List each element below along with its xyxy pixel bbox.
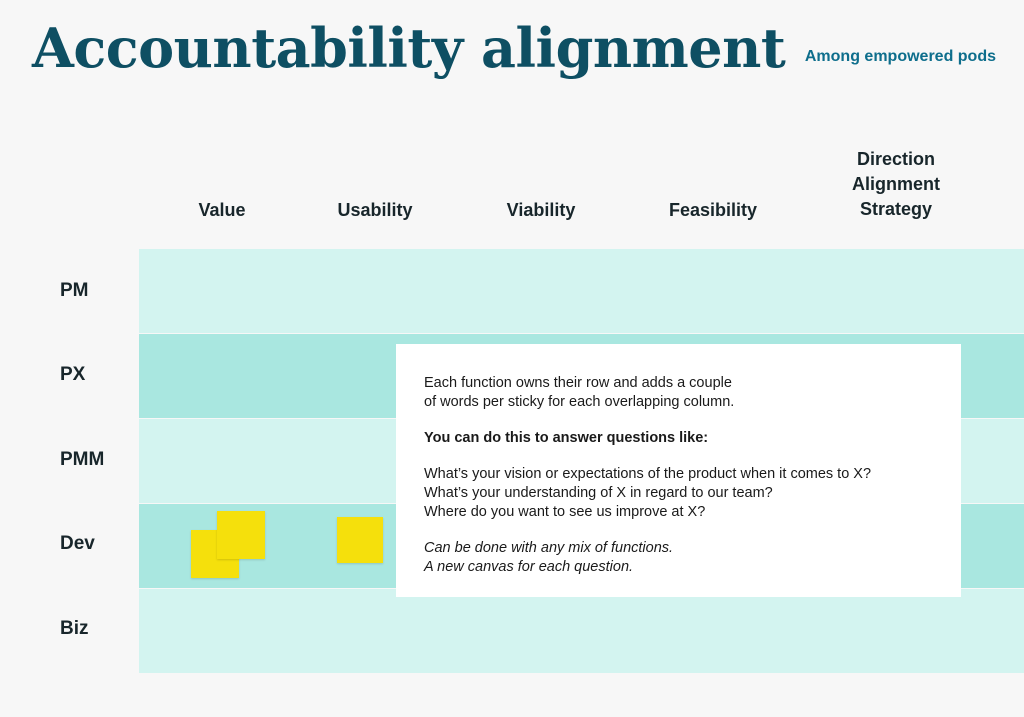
row-label-px: PX	[60, 364, 85, 386]
info-line-1: Each function owns their row and adds a …	[424, 374, 933, 393]
spacer	[424, 522, 933, 539]
column-header-feasibility: Feasibility	[633, 198, 793, 223]
info-question-1: What’s your vision or expectations of th…	[424, 465, 933, 484]
info-note-2: A new canvas for each question.	[424, 558, 933, 577]
row-label-pmm: PMM	[60, 449, 104, 471]
info-question-2: What’s your understanding of X in regard…	[424, 484, 933, 503]
slide-canvas: Accountability alignment Among empowered…	[0, 0, 1024, 717]
column-header-line-strategy: Strategy	[816, 197, 976, 222]
row-label-biz: Biz	[60, 618, 89, 640]
grid-row-biz[interactable]	[139, 589, 1024, 673]
info-note-1: Can be done with any mix of functions.	[424, 539, 933, 558]
spacer	[424, 448, 933, 465]
info-line-2: of words per sticky for each overlapping…	[424, 393, 933, 412]
column-header-usability: Usability	[295, 198, 455, 223]
info-heading: You can do this to answer questions like…	[424, 429, 933, 448]
column-header-line-direction: Direction	[816, 147, 976, 172]
sticky-note[interactable]	[217, 511, 265, 559]
column-header-value: Value	[142, 198, 302, 223]
column-header-direction-alignment-strategy: Direction Alignment Strategy	[816, 147, 976, 222]
grid-row-pm[interactable]	[139, 249, 1024, 333]
row-label-dev: Dev	[60, 533, 95, 555]
column-header-viability: Viability	[461, 198, 621, 223]
column-header-line-alignment: Alignment	[816, 172, 976, 197]
info-card: Each function owns their row and adds a …	[396, 344, 961, 597]
info-question-3: Where do you want to see us improve at X…	[424, 503, 933, 522]
page-title: Accountability alignment	[32, 16, 785, 80]
page-subtitle: Among empowered pods	[805, 48, 996, 66]
spacer	[424, 412, 933, 429]
sticky-note[interactable]	[337, 517, 383, 563]
row-label-pm: PM	[60, 280, 89, 302]
